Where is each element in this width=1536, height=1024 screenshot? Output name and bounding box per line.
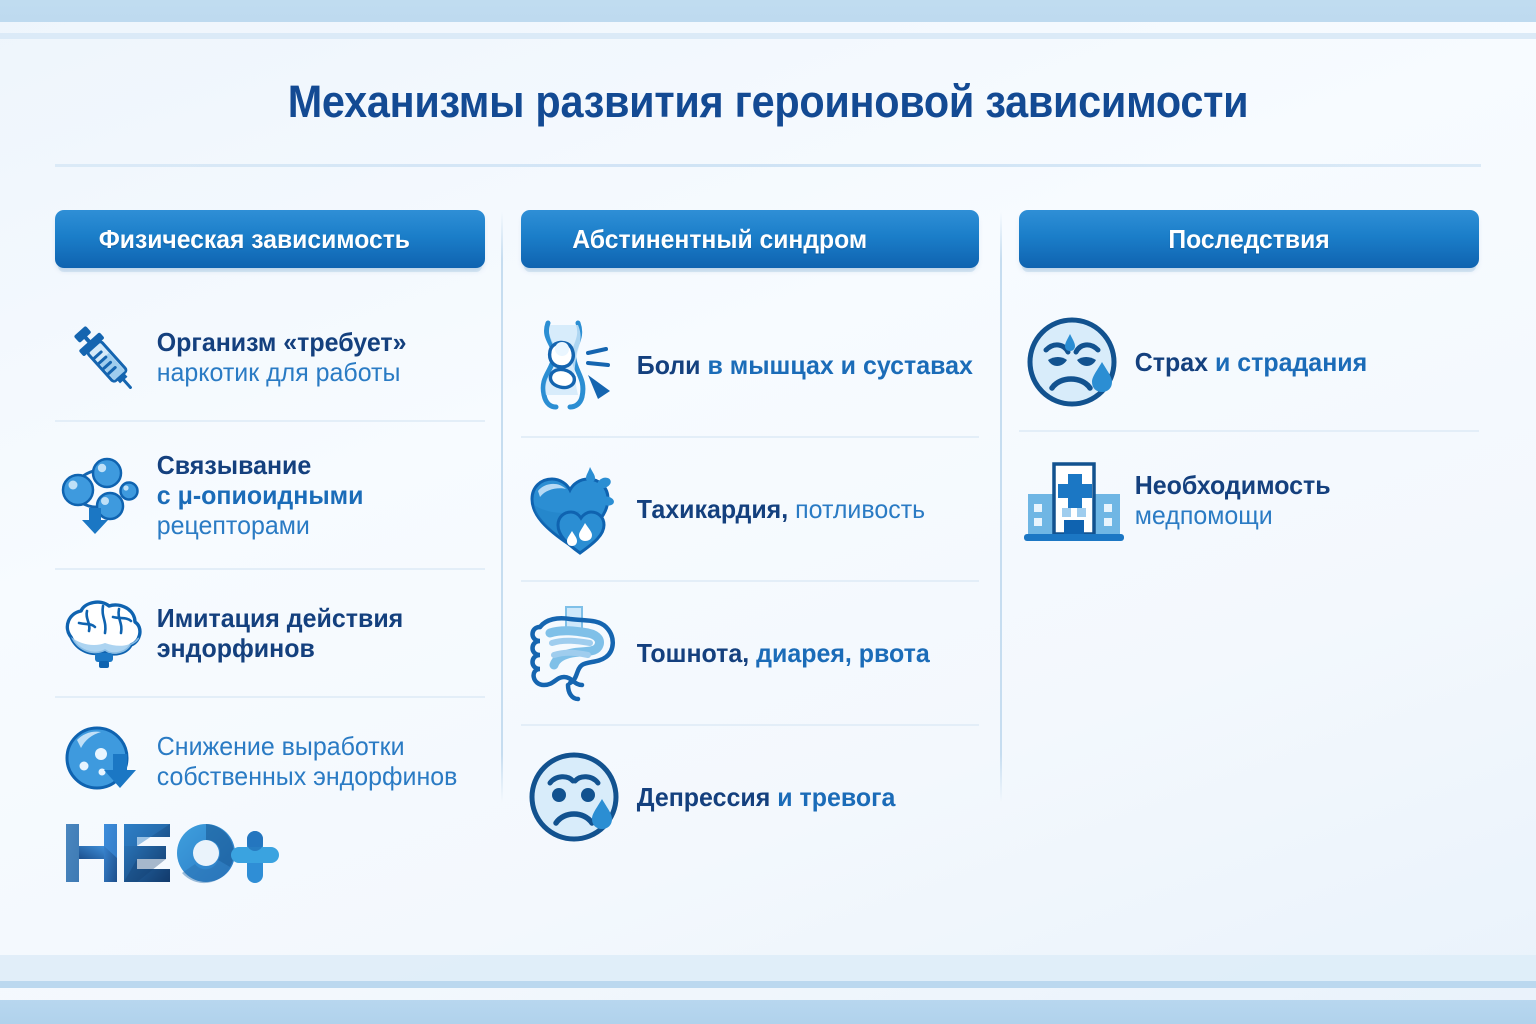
list-item: Тахикардия, потливость <box>521 436 979 580</box>
item-line: Имитация действия <box>157 603 472 633</box>
item-line: Снижение выработки <box>157 731 472 761</box>
list-item-text: Боли в мышцах и суставах <box>631 350 973 380</box>
item-rest: и тревога <box>770 782 895 812</box>
cell-down-arrow-icon <box>55 713 151 809</box>
list-item-text: Страх и страдания <box>1129 347 1465 377</box>
brand-logo <box>62 818 302 892</box>
list-item: Связывание с μ-опиоидными рецепторами <box>55 420 485 568</box>
worried-face-tear-icon <box>1019 311 1129 413</box>
column-withdrawal-syndrome: Абстинентный синдром <box>521 210 979 868</box>
infographic-poster: Механизмы развития героиновой зависимост… <box>0 0 1536 1024</box>
item-emphasis: Депрессия <box>637 782 771 812</box>
item-line: собственных эндорфинов <box>157 761 472 791</box>
item-line: Страх и страдания <box>1135 347 1465 377</box>
item-line: медпомощи <box>1135 500 1465 530</box>
column-items-0: Организм «требует» наркотик для работы <box>55 294 485 824</box>
item-line: Депрессия и тревога <box>637 782 965 812</box>
item-line: с μ-опиоидными <box>157 480 472 510</box>
hospital-icon <box>1019 449 1129 551</box>
syringe-icon <box>55 309 151 405</box>
joint-pain-icon <box>521 313 631 417</box>
intestines-icon <box>521 601 631 705</box>
list-item-text: Снижение выработки собственных эндорфино… <box>151 731 472 791</box>
column-physical-dependence: Физическая зависимость <box>55 210 485 824</box>
item-rest: потливость <box>788 494 925 524</box>
item-line: Необходимость <box>1135 470 1465 500</box>
item-rest: диарея, рвота <box>749 638 930 668</box>
list-item: Тошнота, диарея, рвота <box>521 580 979 724</box>
list-item: Снижение выработки собственных эндорфино… <box>55 696 485 824</box>
item-rest: в мышцах и суставах <box>701 350 973 380</box>
item-emphasis: Тахикардия, <box>637 494 788 524</box>
item-line: наркотик для работы <box>157 357 472 387</box>
list-item-text: Депрессия и тревога <box>631 782 965 812</box>
item-emphasis: Страх <box>1135 347 1208 377</box>
item-line: Боли в мышцах и суставах <box>637 350 973 380</box>
list-item: Имитация действия эндорфинов <box>55 568 485 696</box>
bottom-band <box>0 1000 1536 1024</box>
list-item-text: Организм «требует» наркотик для работы <box>151 327 472 387</box>
brain-icon <box>55 585 151 681</box>
column-consequences: Последствия <box>1019 210 1479 568</box>
column-header-label: Физическая зависимость <box>55 224 410 255</box>
item-line: Организм «требует» <box>157 327 472 357</box>
column-items-2: Страх и страдания <box>1019 294 1479 568</box>
column-header-2: Последствия <box>1019 210 1479 268</box>
column-items-1: Боли в мышцах и суставах <box>521 294 979 868</box>
column-header-label: Абстинентный синдром <box>521 224 867 255</box>
column-header-1: Абстинентный синдром <box>521 210 979 268</box>
list-item: Организм «требует» наркотик для работы <box>55 294 485 420</box>
list-item-text: Тошнота, диарея, рвота <box>631 638 965 668</box>
item-emphasis: Боли <box>637 350 701 380</box>
list-item-text: Тахикардия, потливость <box>631 494 965 524</box>
sad-face-tear-icon <box>521 745 631 849</box>
list-item-text: Необходимость медпомощи <box>1129 470 1465 530</box>
column-header-0: Физическая зависимость <box>55 210 485 268</box>
item-line: Связывание <box>157 450 472 480</box>
molecule-receptor-icon <box>55 447 151 543</box>
list-item: Депрессия и тревога <box>521 724 979 868</box>
list-item-text: Имитация действия эндорфинов <box>151 603 472 663</box>
list-item: Необходимость медпомощи <box>1019 430 1479 568</box>
item-line: эндорфинов <box>157 633 472 663</box>
item-rest: и страдания <box>1208 347 1367 377</box>
list-item: Страх и страдания <box>1019 294 1479 430</box>
item-emphasis: Тошнота, <box>637 638 749 668</box>
item-line: Тошнота, диарея, рвота <box>637 638 965 668</box>
list-item: Боли в мышцах и суставах <box>521 294 979 436</box>
bottom-accent-line <box>0 981 1536 988</box>
list-item-text: Связывание с μ-опиоидными рецепторами <box>151 450 472 540</box>
bottom-soft-band <box>0 955 1536 981</box>
column-header-label: Последствия <box>1031 224 1468 255</box>
heart-sweat-icon <box>521 457 631 561</box>
item-line: Тахикардия, потливость <box>637 494 965 524</box>
item-line: рецепторами <box>157 510 472 540</box>
